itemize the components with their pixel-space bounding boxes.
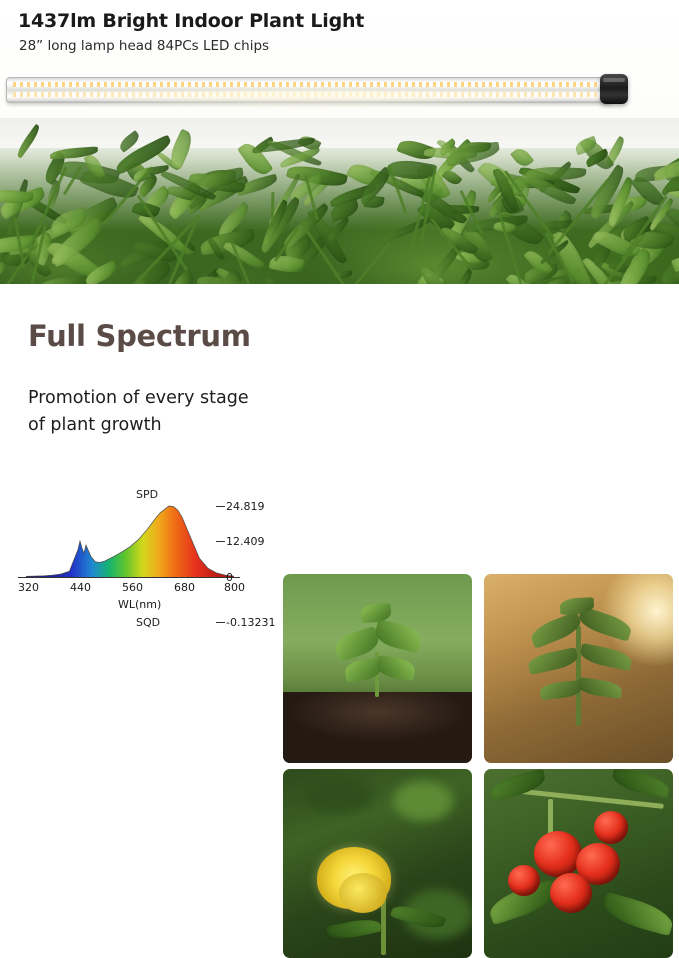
x-tick-label-440: 440 — [70, 581, 91, 594]
full-spectrum-panel: Full Spectrum Promotion of every stage o… — [0, 285, 679, 673]
sqd-value: -0.13231 — [226, 616, 275, 629]
foliage-photo — [0, 118, 679, 285]
product-headline: 1437lm Bright Indoor Plant Light — [18, 10, 364, 32]
sqd-label: SQD — [136, 616, 160, 629]
photo-flower-bokeh — [393, 781, 453, 821]
x-axis-title: WL(nm) — [118, 598, 161, 611]
photo-flower-bokeh — [303, 777, 373, 813]
product-subheadline: 28” long lamp head 84PCs LED chips — [19, 38, 269, 54]
led-chip-row-top — [13, 82, 605, 87]
lamp-end-cap-highlight — [603, 78, 625, 82]
spd-curve — [26, 505, 234, 577]
tomato-fruit — [594, 811, 628, 844]
x-tick-label-560: 560 — [122, 581, 143, 594]
tomato-fruit — [508, 865, 540, 896]
photo-seedling-soil — [283, 692, 472, 763]
photo-seedling-in-soil — [283, 574, 472, 763]
photo-plant-stem — [576, 626, 581, 726]
y-tick-dash-mid — [216, 541, 225, 542]
photo-yellow-flower — [283, 769, 472, 958]
y-tick-dash-zero — [216, 577, 225, 578]
full-spectrum-subtitle: Promotion of every stage of plant growth — [28, 385, 268, 439]
x-tick-label-800: 800 — [224, 581, 245, 594]
hero-panel: 1437lm Bright Indoor Plant Light 28” lon… — [0, 0, 679, 285]
lamp-glow — [8, 90, 608, 112]
x-tick-label-320: 320 — [18, 581, 39, 594]
spd-chart: SPD 24.819 — [8, 485, 278, 645]
full-spectrum-title: Full Spectrum — [28, 319, 251, 353]
spd-chart-label: SPD — [136, 488, 158, 501]
tomato-fruit — [534, 831, 582, 877]
x-tick-label-680: 680 — [174, 581, 195, 594]
y-tick-dash-max — [216, 506, 225, 507]
tomato-fruit — [550, 873, 592, 913]
sqd-dash — [216, 622, 225, 623]
photo-young-tomato-plant — [484, 574, 673, 763]
photo-ripe-tomatoes — [484, 769, 673, 958]
photo-flower-bloom-secondary — [339, 873, 387, 913]
y-tick-label-mid: 12.409 — [226, 535, 265, 548]
grow-light-lamp — [6, 74, 620, 104]
y-tick-label-max: 24.819 — [226, 500, 265, 513]
spd-x-axis — [18, 577, 240, 578]
